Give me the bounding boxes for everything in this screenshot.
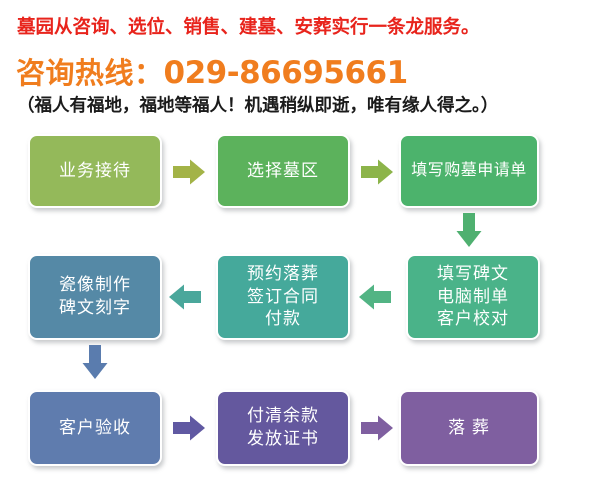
flow-node-burial[interactable]: 落 葬 bbox=[399, 390, 539, 466]
flow-node-inscription-and-proofread[interactable]: 填写碑文 电脑制单 客户校对 bbox=[406, 254, 540, 340]
flow-node-fill-purchase-application[interactable]: 填写购墓申请单 bbox=[399, 134, 539, 208]
subline-text: （福人有福地，福地等福人！机遇稍纵即逝，唯有缘人得之。） bbox=[17, 92, 498, 117]
flow-node-label: 选择墓区 bbox=[245, 160, 321, 183]
flow-node-customer-acceptance[interactable]: 客户验收 bbox=[28, 390, 162, 466]
headline-text: 墓园从咨询、选位、销售、建墓、安葬实行一条龙服务。 bbox=[17, 13, 480, 39]
flow-node-label: 业务接待 bbox=[57, 160, 133, 183]
flow-node-label: 预约落葬 签订合同 付款 bbox=[245, 263, 321, 331]
arrow-down-1 bbox=[455, 212, 483, 248]
hotline-line: 咨询热线：029-86695661 bbox=[16, 50, 408, 92]
arrow-right-1 bbox=[172, 158, 206, 186]
flow-node-label: 客户验收 bbox=[57, 417, 133, 440]
flow-node-label: 瓷像制作 碑文刻字 bbox=[57, 274, 133, 319]
arrow-left-2 bbox=[168, 283, 202, 311]
flow-node-label: 落 葬 bbox=[446, 417, 492, 440]
flow-node-label: 付清余款 发放证书 bbox=[245, 405, 321, 450]
arrow-right-2 bbox=[360, 158, 394, 186]
arrow-left-1 bbox=[358, 283, 392, 311]
hotline-number[interactable]: 029-86695661 bbox=[164, 55, 408, 91]
process-flow-diagram: 业务接待 选择墓区 填写购墓申请单 填写碑文 电脑制单 客户校对 预约落葬 签订… bbox=[0, 128, 608, 497]
flow-node-porcelain-photo-and-carving[interactable]: 瓷像制作 碑文刻字 bbox=[28, 254, 162, 340]
flow-node-label: 填写购墓申请单 bbox=[409, 160, 529, 181]
arrow-right-3 bbox=[172, 414, 206, 442]
flow-node-label: 填写碑文 电脑制单 客户校对 bbox=[435, 263, 511, 331]
header-banner: 墓园从咨询、选位、销售、建墓、安葬实行一条龙服务。 咨询热线：029-86695… bbox=[0, 0, 608, 128]
flow-node-business-reception[interactable]: 业务接待 bbox=[28, 134, 162, 208]
arrow-right-4 bbox=[360, 414, 394, 442]
flow-node-select-cemetery-area[interactable]: 选择墓区 bbox=[216, 134, 350, 208]
hotline-label: 咨询热线： bbox=[16, 58, 164, 90]
arrow-down-2 bbox=[81, 344, 109, 380]
flow-node-booking-contract-payment[interactable]: 预约落葬 签订合同 付款 bbox=[216, 254, 350, 340]
flow-node-final-payment-and-certificate[interactable]: 付清余款 发放证书 bbox=[216, 390, 350, 466]
